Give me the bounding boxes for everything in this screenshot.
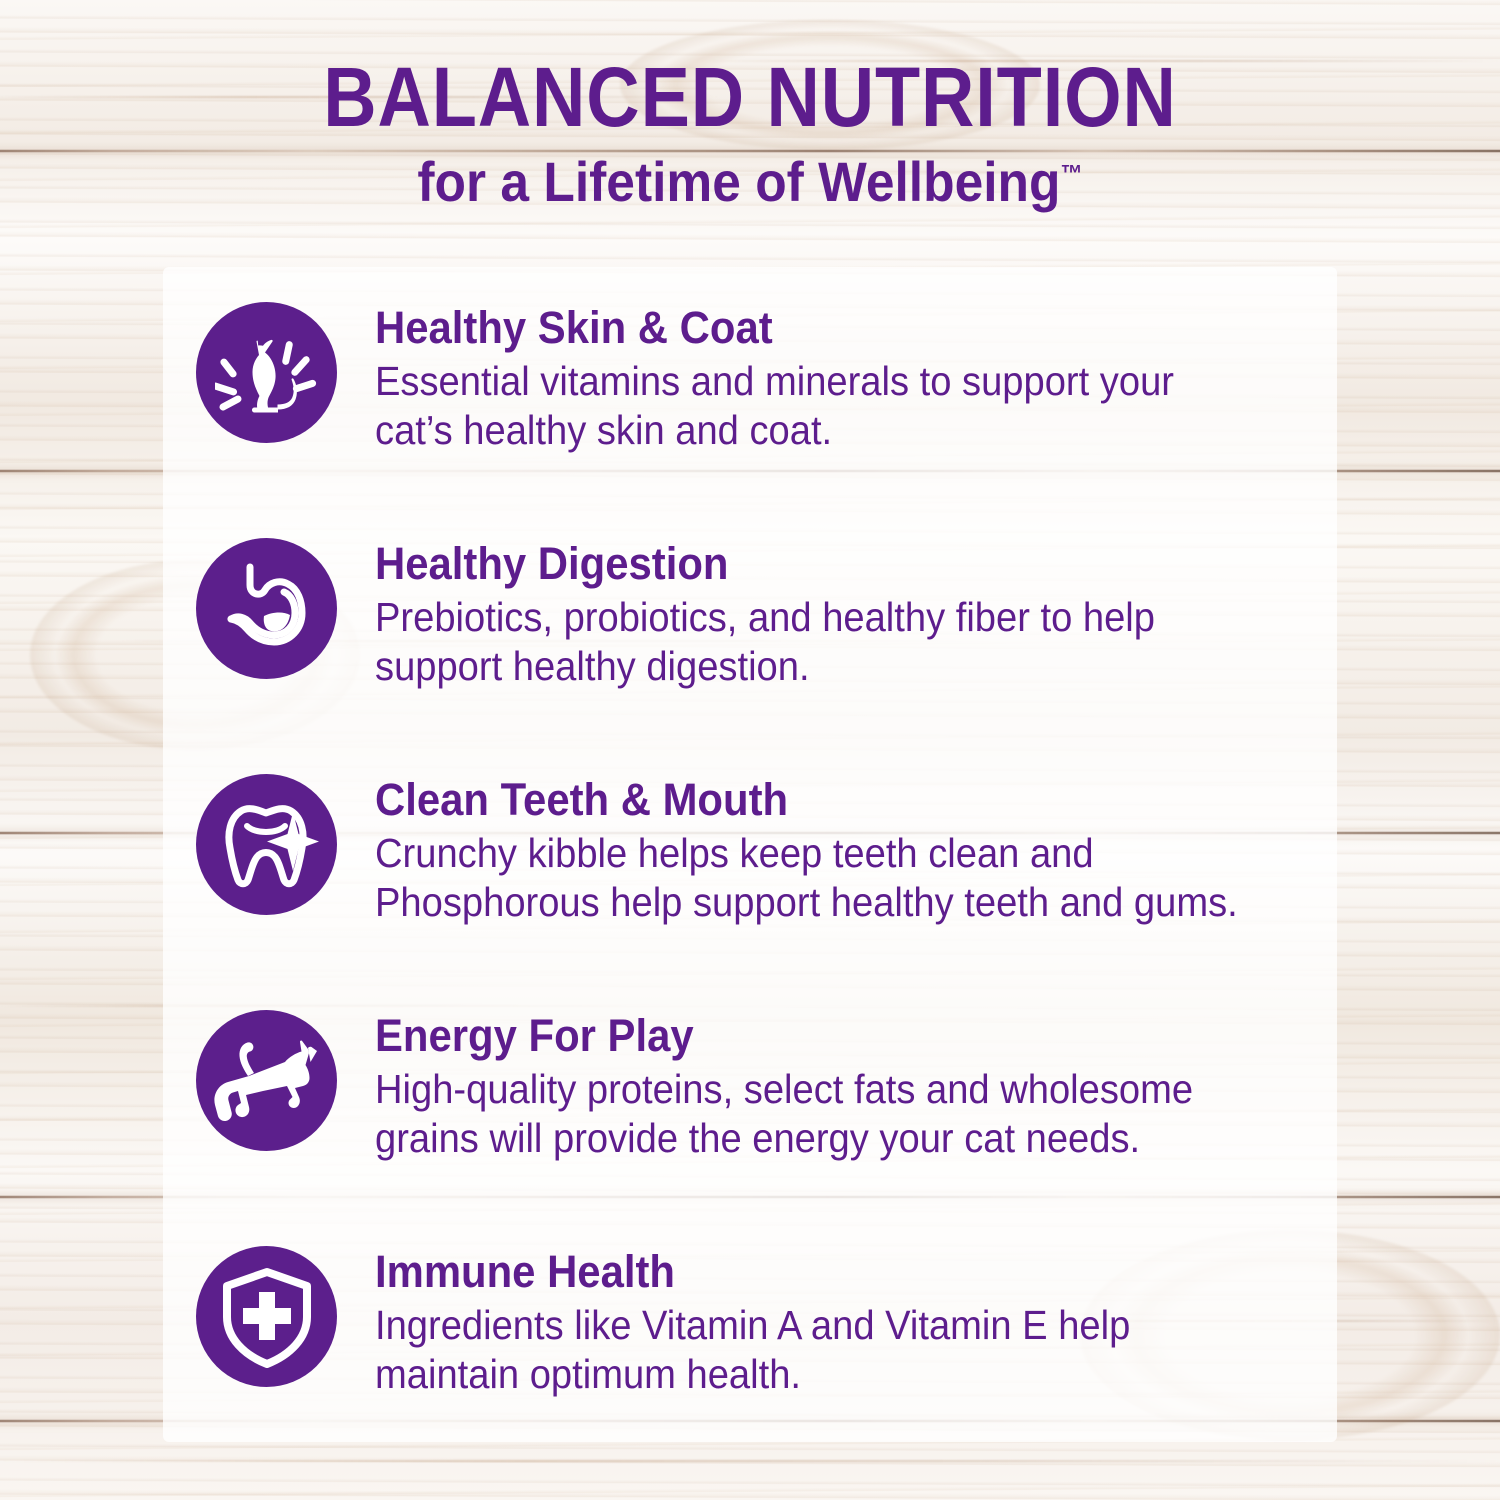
trademark-symbol: ™: [1061, 160, 1083, 187]
feature-text: Clean Teeth & Mouth Crunchy kibble helps…: [337, 772, 1306, 926]
tooth-sparkle-icon: [196, 774, 337, 915]
list-item: Healthy Digestion Prebiotics, probiotics…: [196, 536, 1306, 690]
feature-title: Immune Health: [375, 1248, 1241, 1295]
feature-description: Ingredients like Vitamin A and Vitamin E…: [375, 1301, 1241, 1398]
feature-description: Essential vitamins and minerals to suppo…: [375, 357, 1241, 454]
feature-title: Healthy Digestion: [375, 540, 1241, 587]
feature-title: Energy For Play: [375, 1012, 1241, 1059]
list-item: Clean Teeth & Mouth Crunchy kibble helps…: [196, 772, 1306, 926]
page-title: BALANCED NUTRITION: [90, 58, 1410, 138]
feature-text: Energy For Play High-quality proteins, s…: [337, 1008, 1306, 1162]
stomach-icon: [196, 538, 337, 679]
list-item: Energy For Play High-quality proteins, s…: [196, 1008, 1306, 1162]
leaping-cat-icon: [196, 1010, 337, 1151]
poster-canvas: BALANCED NUTRITION for a Lifetime of Wel…: [0, 0, 1500, 1500]
feature-title: Healthy Skin & Coat: [375, 304, 1241, 351]
page-subtitle: for a Lifetime of Wellbeing™: [60, 154, 1440, 210]
feature-text: Immune Health Ingredients like Vitamin A…: [337, 1244, 1306, 1398]
feature-text: Healthy Digestion Prebiotics, probiotics…: [337, 536, 1306, 690]
page-subtitle-text: for a Lifetime of Wellbeing: [417, 150, 1060, 213]
header: BALANCED NUTRITION for a Lifetime of Wel…: [0, 58, 1500, 210]
wood-grain-streak: [0, 1460, 1500, 1462]
feature-description: High-quality proteins, select fats and w…: [375, 1065, 1241, 1162]
sitting-cat-shine-icon: [196, 302, 337, 443]
feature-text: Healthy Skin & Coat Essential vitamins a…: [337, 300, 1306, 454]
feature-description: Prebiotics, probiotics, and healthy fibe…: [375, 593, 1241, 690]
feature-list: Healthy Skin & Coat Essential vitamins a…: [196, 300, 1306, 1398]
list-item: Immune Health Ingredients like Vitamin A…: [196, 1244, 1306, 1398]
list-item: Healthy Skin & Coat Essential vitamins a…: [196, 300, 1306, 454]
shield-cross-icon: [196, 1246, 337, 1387]
feature-title: Clean Teeth & Mouth: [375, 776, 1241, 823]
feature-description: Crunchy kibble helps keep teeth clean an…: [375, 829, 1241, 926]
